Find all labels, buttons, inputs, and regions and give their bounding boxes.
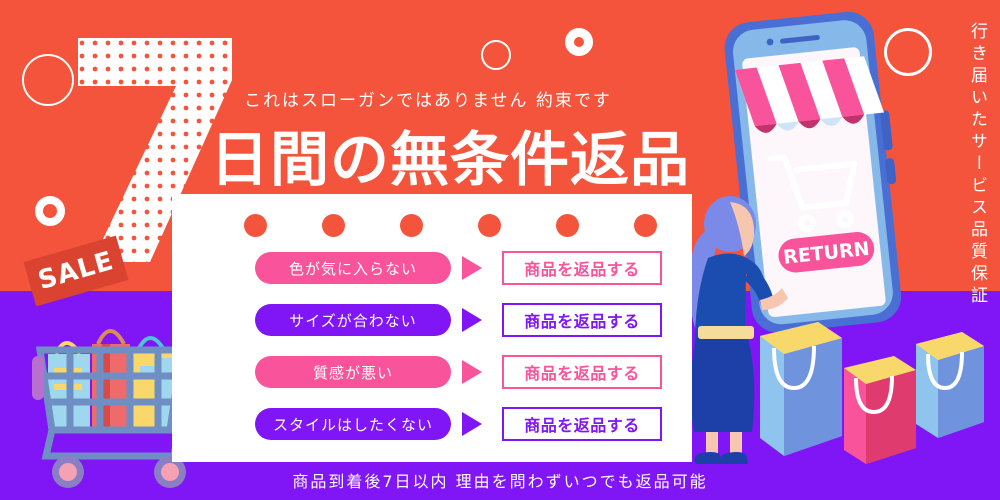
reason-action-row: スタイルはしたくない商品を返品する <box>172 398 692 450</box>
arrow-right-icon <box>462 360 482 384</box>
decorative-dot <box>322 214 345 237</box>
woman-skirt <box>690 338 754 432</box>
cart-handle <box>32 356 44 400</box>
woman-leg <box>730 432 742 454</box>
reason-action-row: 色が気に入らない商品を返品する <box>172 242 692 294</box>
reason-action-row: 質感が悪い商品を返品する <box>172 346 692 398</box>
woman-shoe <box>694 452 722 464</box>
decorative-circle-donut <box>565 28 593 56</box>
tagline: これはスローガンではありません 約束です <box>244 86 612 111</box>
return-action-box[interactable]: 商品を返品する <box>502 355 662 389</box>
decorative-circle-outline <box>481 40 511 70</box>
decorative-dot <box>556 214 579 237</box>
shopping-bag-blue <box>916 332 984 438</box>
reason-action-row: サイズが合わない商品を返品する <box>172 294 692 346</box>
woman-shoe <box>720 452 748 464</box>
reason-pill[interactable]: 色が気に入らない <box>255 252 451 284</box>
arrow-right-icon <box>462 412 482 436</box>
reason-pill[interactable]: スタイルはしたくない <box>255 408 451 440</box>
woman-belt <box>698 326 754 339</box>
return-action-box[interactable]: 商品を返品する <box>502 251 662 285</box>
reason-action-list: 色が気に入らない商品を返品するサイズが合わない商品を返品する質感が悪い商品を返品… <box>172 242 692 450</box>
reason-pill[interactable]: 質感が悪い <box>255 356 451 388</box>
decorative-dot <box>634 214 657 237</box>
promo-banner: SALE これはスローガンではありません 約束です 日間の無条件返品 行き届いた… <box>0 0 1000 500</box>
shopping-bag-blue <box>760 322 842 456</box>
return-action-box[interactable]: 商品を返品する <box>502 407 662 441</box>
arrow-right-icon <box>462 308 482 332</box>
vertical-service-text: 行き届いたサービス品質保証 <box>956 22 990 308</box>
shopping-bag-pink <box>844 356 916 464</box>
woman-leg <box>706 432 718 454</box>
return-action-box[interactable]: 商品を返品する <box>502 303 662 337</box>
bottom-caption: 商品到着後7日以内 理由を問わずいつでも返品可能 <box>0 468 1000 492</box>
decorative-dot <box>400 214 423 237</box>
page-title: 日間の無条件返品 <box>210 112 690 197</box>
content-panel: 色が気に入らない商品を返品するサイズが合わない商品を返品する質感が悪い商品を返品… <box>172 194 692 462</box>
decorative-dot <box>244 214 267 237</box>
arrow-right-icon <box>462 256 482 280</box>
decorative-dot <box>478 214 501 237</box>
reason-pill[interactable]: サイズが合わない <box>255 304 451 336</box>
shopping-bags-illustration <box>748 296 998 476</box>
dots-row <box>172 194 692 248</box>
